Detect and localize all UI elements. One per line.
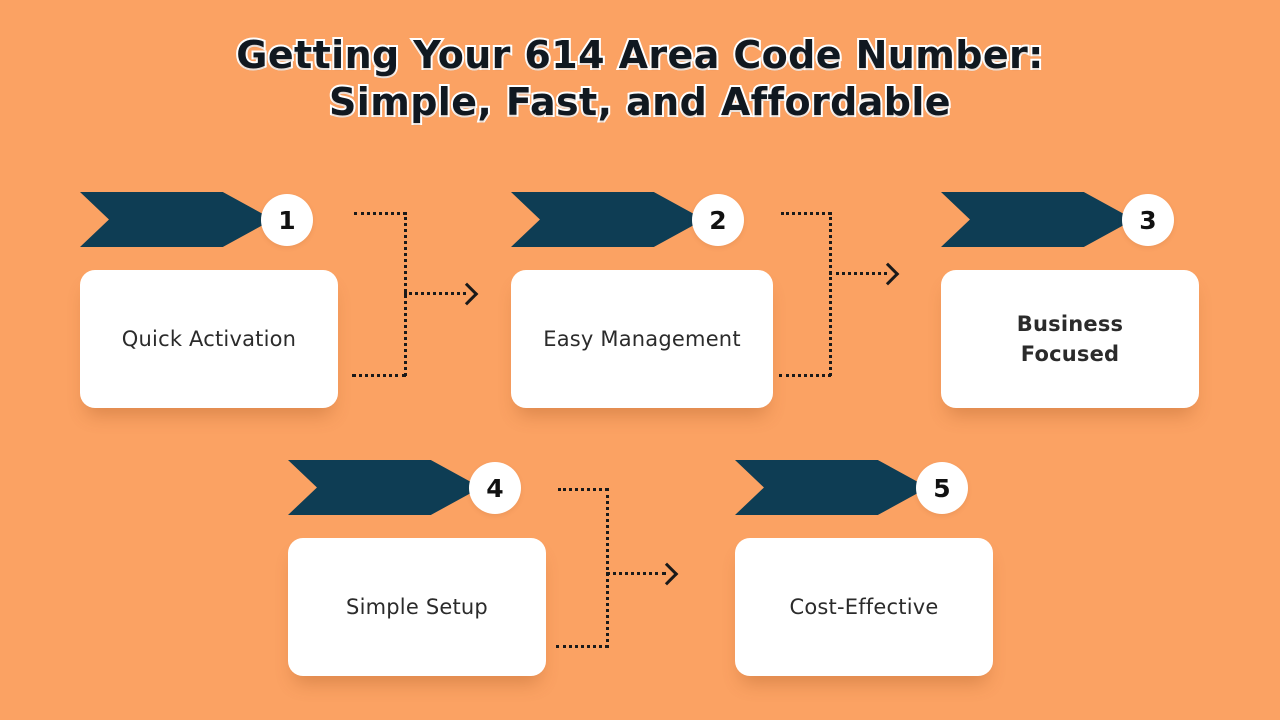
step-card[interactable]: Cost-Effective: [735, 538, 993, 676]
chevron-banner-icon: [288, 460, 481, 515]
connector-segment-bottom: [556, 645, 608, 648]
step-card-label: Quick Activation: [122, 325, 296, 354]
step-card-label: Business Focused: [1005, 309, 1135, 370]
step-number-label: 2: [709, 208, 726, 233]
step-card[interactable]: Easy Management: [511, 270, 773, 408]
step-number-label: 5: [933, 476, 950, 501]
step-card-label: Simple Setup: [346, 593, 488, 622]
step-number-label: 1: [278, 208, 295, 233]
step-number-label: 3: [1139, 208, 1156, 233]
step-number-label: 4: [486, 476, 503, 501]
step-card[interactable]: Business Focused: [941, 270, 1199, 408]
connector-segment-vertical: [404, 212, 407, 376]
step-number-badge: 5: [916, 462, 968, 514]
title-line-2: Simple, Fast, and Affordable: [0, 83, 1280, 121]
connector-segment-bottom: [779, 374, 831, 377]
title-line-1: Getting Your 614 Area Code Number:: [0, 36, 1280, 74]
connector-segment-top: [558, 488, 608, 491]
step-card-label: Easy Management: [543, 325, 741, 354]
infographic-canvas: Getting Your 614 Area Code Number: Simpl…: [0, 0, 1280, 720]
chevron-banner-icon: [941, 192, 1134, 247]
chevron-banner-icon: [511, 192, 704, 247]
step-card[interactable]: Simple Setup: [288, 538, 546, 676]
arrow-head-icon: [456, 283, 479, 306]
connector-segment-top: [354, 212, 406, 215]
step-number-badge: 4: [469, 462, 521, 514]
step-card-label: Cost-Effective: [789, 593, 938, 622]
arrow-head-icon: [877, 263, 900, 286]
step-number-badge: 2: [692, 194, 744, 246]
connector-segment-top: [781, 212, 831, 215]
chevron-banner-icon: [735, 460, 928, 515]
connector-segment-arrow-shaft: [404, 292, 466, 295]
connector-segment-vertical: [606, 488, 609, 648]
connector-segment-vertical: [829, 212, 832, 376]
connector-segment-bottom: [352, 374, 406, 377]
connector-segment-arrow-shaft: [606, 572, 666, 575]
step-card[interactable]: Quick Activation: [80, 270, 338, 408]
connector-segment-arrow-shaft: [829, 272, 887, 275]
arrow-head-icon: [656, 563, 679, 586]
step-number-badge: 1: [261, 194, 313, 246]
step-number-badge: 3: [1122, 194, 1174, 246]
page-title: Getting Your 614 Area Code Number: Simpl…: [0, 36, 1280, 121]
chevron-banner-icon: [80, 192, 273, 247]
